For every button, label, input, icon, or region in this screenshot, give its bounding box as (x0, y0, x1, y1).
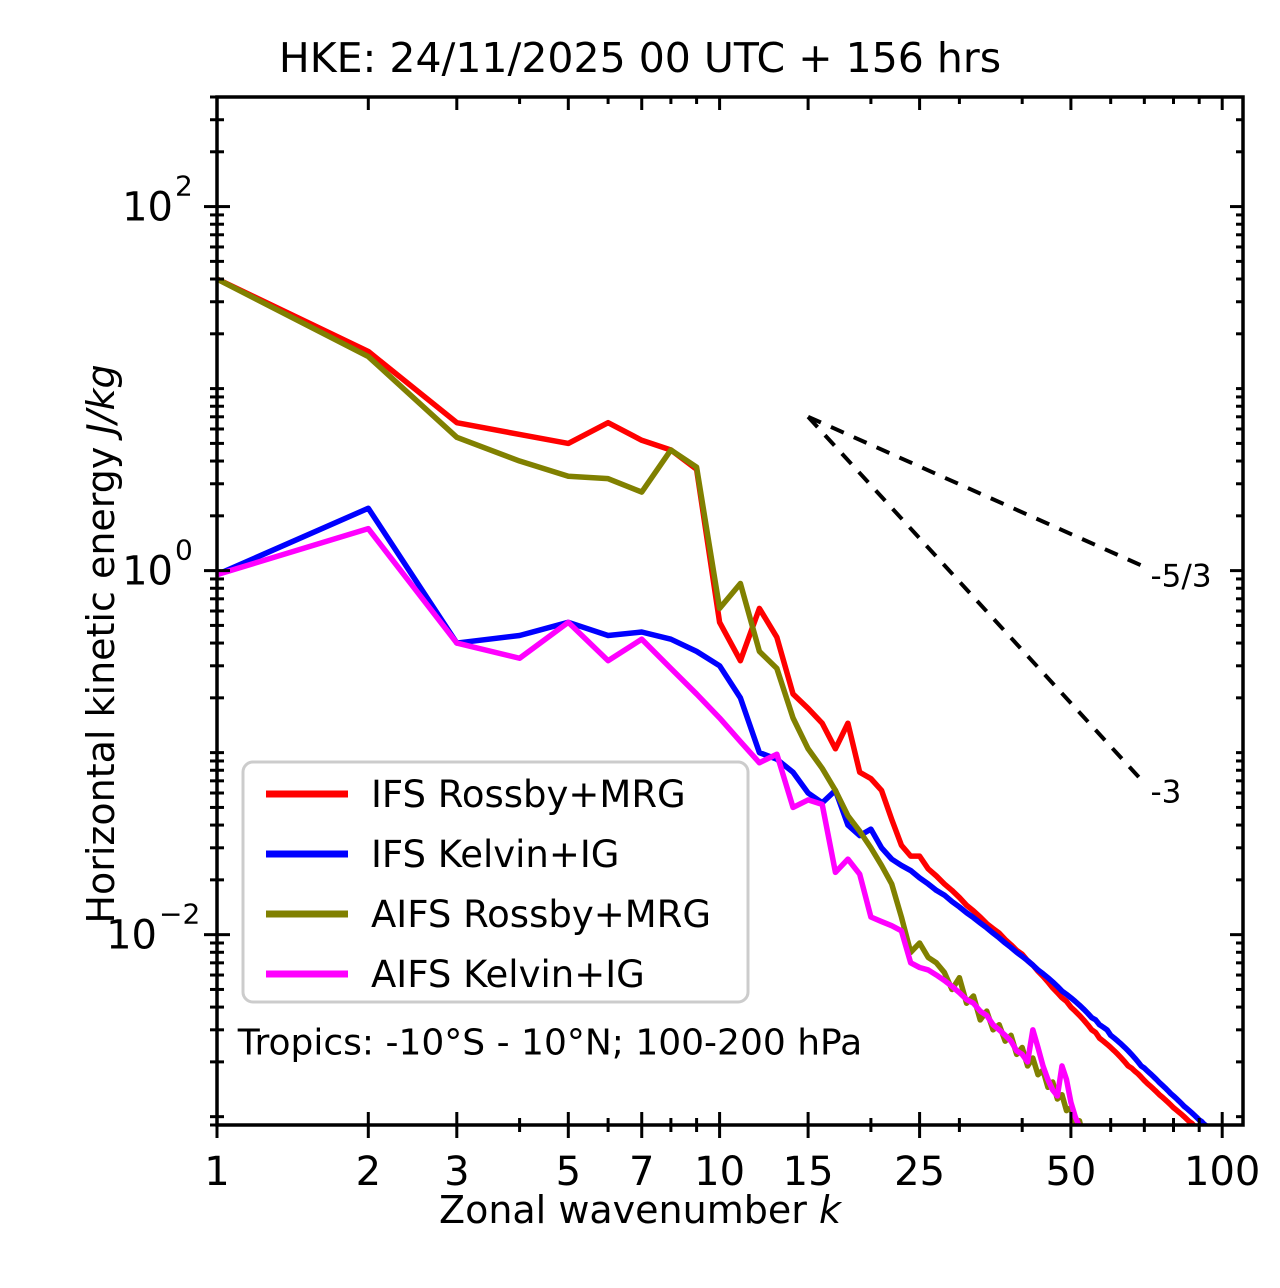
x-axis-label: Zonal wavenumber k (0, 1188, 1280, 1232)
x-axis-label-symbol: k (819, 1188, 841, 1232)
y-tick-label: 102 (122, 170, 193, 231)
y-tick-label: 100 (122, 534, 193, 595)
svg-text:−2: −2 (159, 898, 200, 931)
svg-text:2: 2 (175, 170, 193, 203)
slope-label-minus-5-3: -5/3 (1150, 559, 1211, 595)
plot-annotation-region: Tropics: -10°S - 10°N; 100-200 hPa (237, 1022, 862, 1063)
reference-line-minus-3 (808, 417, 1144, 783)
chart-plot-area: -5/3-3Tropics: -10°S - 10°N; 100-200 hPa… (0, 0, 1280, 1288)
y-tick-label: 10−2 (106, 898, 200, 959)
x-axis-label-text: Zonal wavenumber (439, 1188, 819, 1232)
legend-label-1: IFS Kelvin+IG (371, 833, 619, 876)
reference-line-minus-5-3 (808, 417, 1144, 567)
svg-text:0: 0 (175, 534, 193, 567)
svg-text:10: 10 (122, 185, 173, 231)
legend-label-0: IFS Rossby+MRG (371, 773, 686, 816)
chart-figure: HKE: 24/11/2025 00 UTC + 156 hrs -5/3-3T… (0, 0, 1280, 1288)
svg-text:10: 10 (122, 549, 173, 595)
chart-legend: IFS Rossby+MRGIFS Kelvin+IGAIFS Rossby+M… (243, 762, 748, 1002)
svg-text:10: 10 (106, 913, 157, 959)
legend-label-2: AIFS Rossby+MRG (371, 893, 711, 936)
legend-label-3: AIFS Kelvin+IG (371, 953, 645, 996)
slope-label-minus-3: -3 (1150, 774, 1181, 810)
